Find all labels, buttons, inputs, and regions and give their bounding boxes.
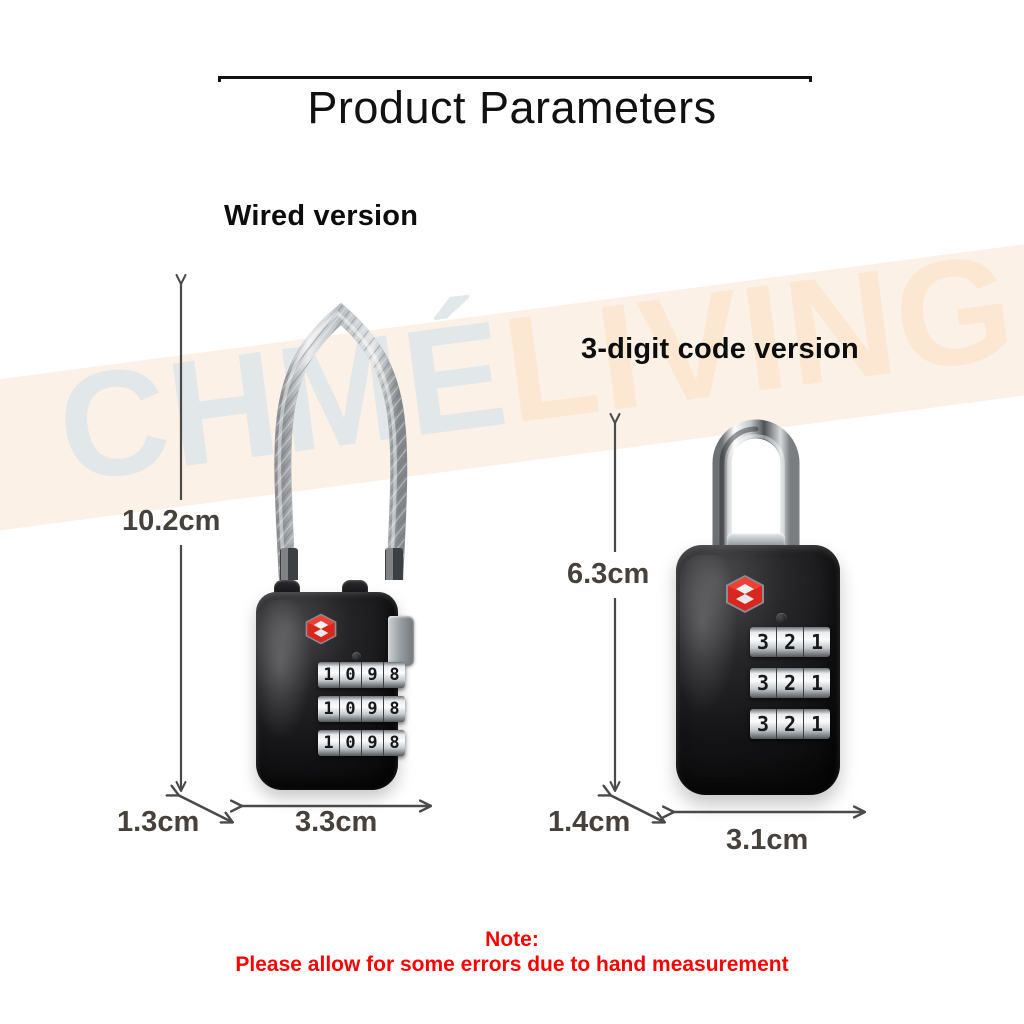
section-heading-three-digit: 3-digit code version — [581, 333, 859, 366]
reset-button-icon — [776, 613, 787, 624]
watermark-text: CHMÉLIVING — [50, 225, 1024, 504]
dimension-label-width-code: 3.1cm — [726, 824, 808, 857]
dial-digit[interactable]: 0 — [340, 662, 362, 688]
dimension-label-height-wired: 10.2cm — [122, 505, 220, 538]
dial-row[interactable]: 1 0 9 8 — [318, 730, 405, 756]
dial-stack-wired: 1 0 9 8 1 0 9 8 1 0 9 8 — [318, 662, 405, 756]
dial-row[interactable]: 3 2 1 — [750, 668, 830, 698]
dial-stack-code: 3 2 1 3 2 1 3 2 1 — [750, 627, 830, 739]
infographic-canvas: CHMÉLIVING Product Parameters Wired vers… — [0, 0, 1024, 1024]
note-text: Please allow for some errors due to hand… — [0, 950, 1024, 980]
product-image-code-lock: 3 2 1 3 2 1 3 2 1 — [672, 405, 872, 795]
dial-digit[interactable]: 3 — [750, 668, 777, 698]
dial-digit[interactable]: 9 — [362, 662, 384, 688]
dial-digit[interactable]: 8 — [384, 662, 405, 688]
dial-digit[interactable]: 2 — [777, 709, 804, 739]
dial-row[interactable]: 3 2 1 — [750, 627, 830, 657]
dial-digit[interactable]: 9 — [362, 730, 384, 756]
dial-digit[interactable]: 0 — [340, 730, 362, 756]
dimension-label-height-code: 6.3cm — [567, 558, 649, 591]
dial-digit[interactable]: 1 — [804, 668, 830, 698]
tsa-logo-icon — [302, 612, 340, 646]
dimension-label-width-wired: 3.3cm — [295, 806, 377, 839]
dial-digit[interactable]: 9 — [362, 696, 384, 722]
steel-cable-icon — [236, 280, 446, 580]
dial-digit[interactable]: 1 — [318, 696, 340, 722]
dial-digit[interactable]: 1 — [804, 709, 830, 739]
section-heading-wired: Wired version — [224, 200, 418, 233]
dial-digit[interactable]: 8 — [384, 696, 405, 722]
dial-digit[interactable]: 2 — [777, 668, 804, 698]
dimension-label-depth-wired: 1.3cm — [117, 806, 199, 839]
dial-digit[interactable]: 0 — [340, 696, 362, 722]
reset-button-icon — [352, 652, 361, 661]
dial-row[interactable]: 3 2 1 — [750, 709, 830, 739]
page-title: Product Parameters — [0, 82, 1024, 134]
dimension-label-depth-code: 1.4cm — [548, 806, 630, 839]
dial-digit[interactable]: 8 — [384, 730, 405, 756]
dial-digit[interactable]: 3 — [750, 627, 777, 657]
tsa-logo-icon — [722, 573, 768, 615]
page-title-label: Product Parameters — [291, 82, 732, 133]
dial-digit[interactable]: 2 — [777, 627, 804, 657]
dial-row[interactable]: 1 0 9 8 — [318, 662, 405, 688]
dial-digit[interactable]: 3 — [750, 709, 777, 739]
dial-digit[interactable]: 1 — [804, 627, 830, 657]
dial-digit[interactable]: 1 — [318, 662, 340, 688]
release-tab-icon — [388, 616, 414, 666]
product-image-wired-lock: 1 0 9 8 1 0 9 8 1 0 9 8 — [236, 280, 446, 790]
dial-digit[interactable]: 1 — [318, 730, 340, 756]
dial-row[interactable]: 1 0 9 8 — [318, 696, 405, 722]
